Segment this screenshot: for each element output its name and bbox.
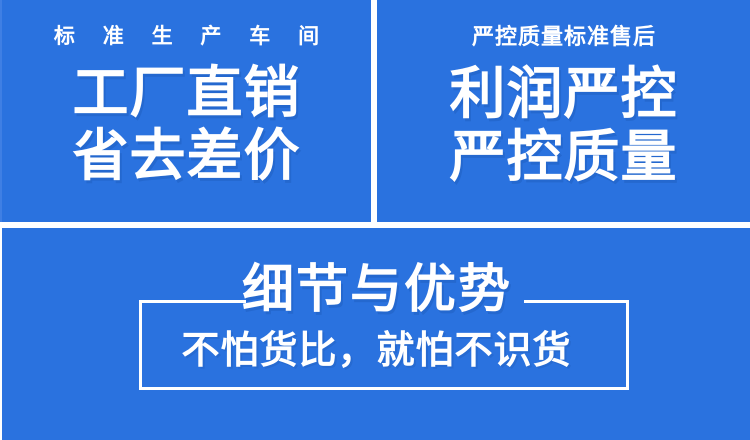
factory-direct-headline-line1: 工厂直销 (73, 63, 301, 122)
quality-control-headline-line2: 严控质量 (450, 127, 678, 186)
factory-direct-headline-line2: 省去差价 (73, 126, 301, 185)
panel-details-advantages-content: 细节与优势 不怕货比，就怕不识货 (2, 228, 750, 440)
quality-control-headline-line1: 利润严控 (450, 64, 678, 123)
details-advantages-title: 细节与优势 (2, 264, 750, 316)
panel-factory-direct-content: 标 准 生 产 车 间 工厂直销 省去差价 (2, 0, 371, 222)
panel-quality-control-content: 严控质量标准售后 利润严控 严控质量 (377, 0, 750, 222)
panel-details-advantages[interactable]: 细节与优势 不怕货比，就怕不识货 (2, 228, 750, 440)
promo-banner: 标 准 生 产 车 间 工厂直销 省去差价 严控质量标准售后 利润严控 严控质量… (0, 0, 750, 440)
panel-factory-direct[interactable]: 标 准 生 产 车 间 工厂直销 省去差价 (2, 0, 371, 222)
quality-control-eyebrow: 严控质量标准售后 (471, 26, 656, 48)
details-advantages-subtitle: 不怕货比，就怕不识货 (2, 332, 750, 370)
factory-direct-eyebrow: 标 准 生 产 车 间 (43, 26, 330, 47)
panel-quality-control[interactable]: 严控质量标准售后 利润严控 严控质量 (377, 0, 750, 222)
